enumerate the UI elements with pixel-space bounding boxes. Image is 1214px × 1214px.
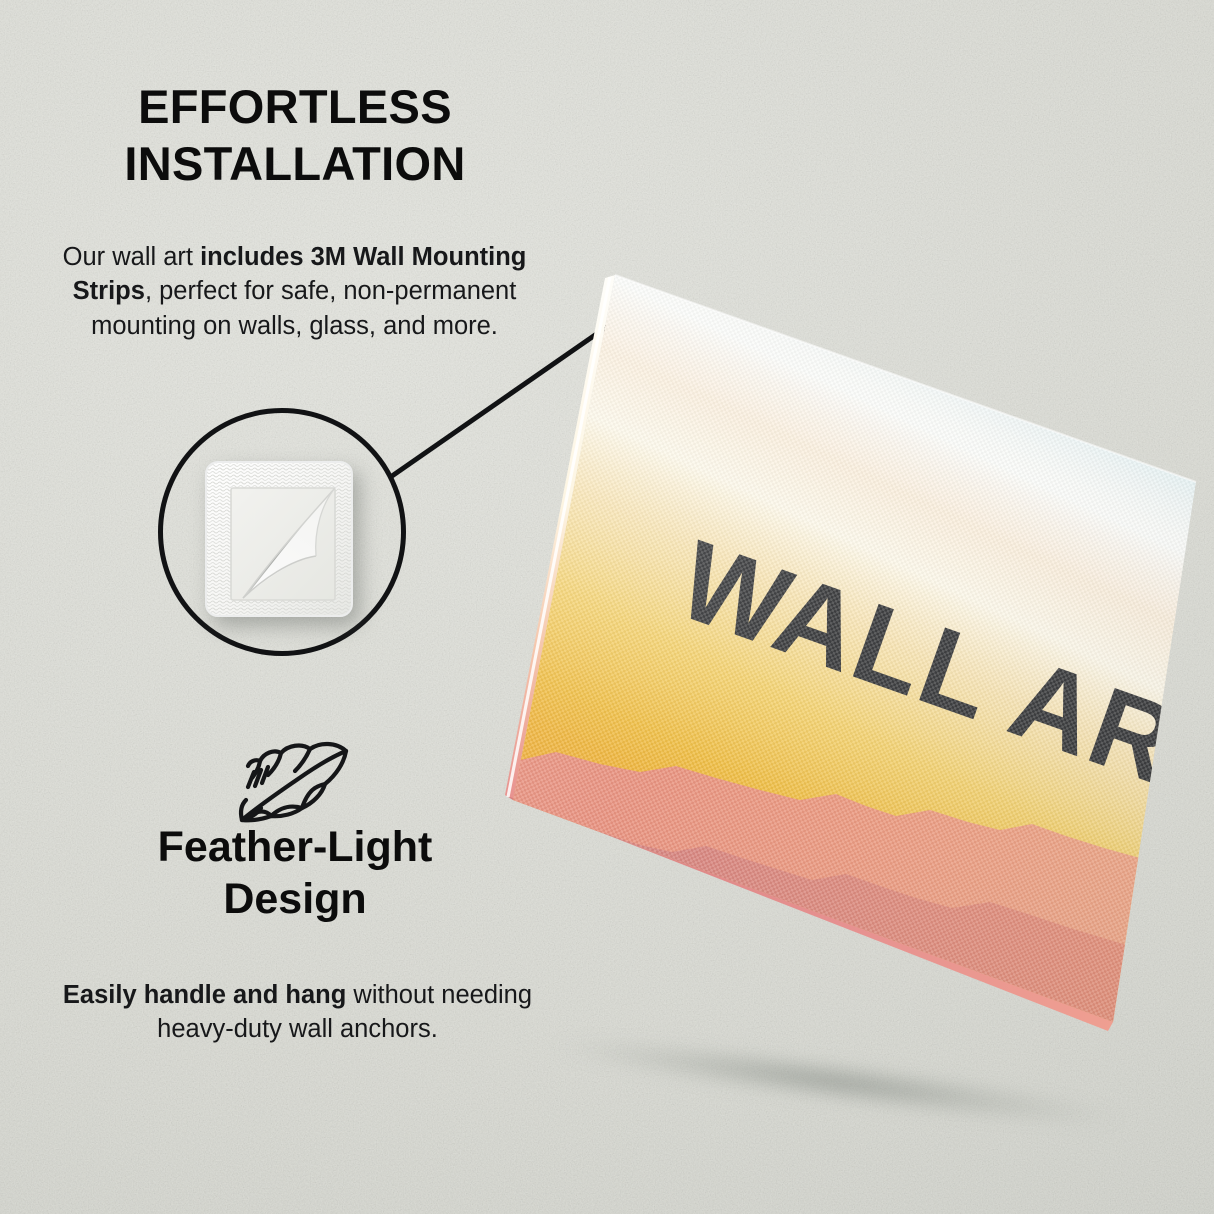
lede-part-1: Our wall art bbox=[63, 243, 200, 271]
feature-title: Feather-Light Design bbox=[30, 822, 560, 925]
feature-description: Easily handle and hang without needing h… bbox=[35, 978, 560, 1047]
mounting-strip-peel-icon bbox=[204, 460, 354, 618]
headline-line-1: EFFORTLESS bbox=[138, 80, 452, 133]
page-title: EFFORTLESS INSTALLATION bbox=[30, 78, 560, 193]
feather-icon bbox=[224, 732, 360, 828]
feature-title-line-2: Design bbox=[30, 874, 560, 926]
mounting-strip-callout bbox=[158, 408, 406, 656]
promo-graphic: EFFORTLESS INSTALLATION Our wall art inc… bbox=[0, 0, 1214, 1214]
headline-line-2: INSTALLATION bbox=[30, 135, 560, 192]
caption-bold-phrase: Easily handle and hang bbox=[63, 981, 346, 1009]
feature-title-line-1: Feather-Light bbox=[158, 823, 433, 871]
callout-leader-line bbox=[370, 300, 630, 500]
